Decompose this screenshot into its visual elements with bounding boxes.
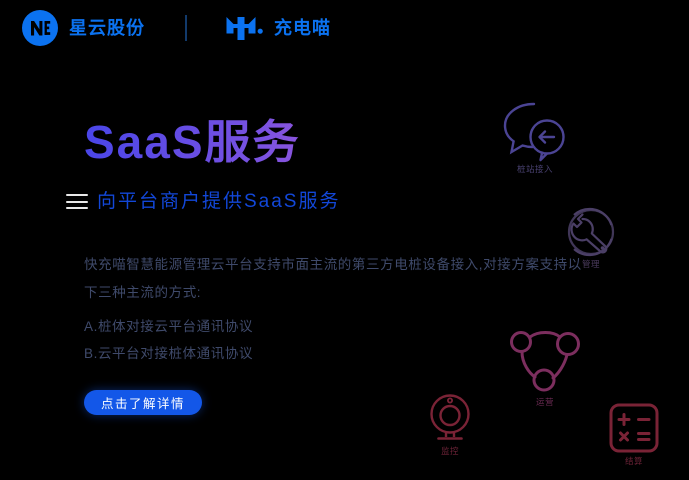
primary-brand-name: 星云股份: [69, 19, 145, 37]
hero-subtitle: 向平台商户提供SaaS服务: [97, 192, 340, 211]
wrench-icon: [564, 207, 618, 257]
feature-item-station-access[interactable]: 桩站接入: [500, 100, 570, 174]
ne-circle-logo-icon: [22, 10, 58, 46]
feature-item-management[interactable]: 管理: [564, 207, 618, 269]
feature-item-monitoring[interactable]: 监控: [425, 392, 475, 456]
feature-label: 监控: [441, 447, 459, 456]
hero-subtitle-row: 向平台商户提供SaaS服务: [66, 192, 604, 211]
calculator-icon: [608, 402, 660, 454]
page-root: 星云股份 充电喵 SaaS服务 向平台商户提供SaaS服务 快充喵智慧能源管理云…: [0, 0, 689, 480]
secondary-brand[interactable]: 充电喵: [225, 15, 331, 41]
feature-item-operation[interactable]: 运营: [505, 325, 585, 407]
feature-label: 管理: [582, 260, 600, 269]
hamburger-menu-icon[interactable]: [66, 194, 88, 209]
brand-divider: [185, 15, 187, 41]
learn-more-button[interactable]: 点击了解详情: [84, 390, 202, 415]
chat-bubble-icon: [500, 100, 570, 162]
hero-paragraph: 快充喵智慧能源管理云平台支持市面主流的第三方电桩设备接入,对接方案支持以下三种主…: [84, 251, 584, 306]
primary-brand[interactable]: 星云股份: [22, 10, 145, 46]
feature-label: 桩站接入: [517, 165, 553, 174]
feature-label: 结算: [625, 457, 643, 466]
feature-label: 运营: [536, 398, 554, 407]
charging-cat-logo-icon: [225, 15, 265, 41]
network-nodes-icon: [505, 325, 585, 395]
feature-item-settlement[interactable]: 结算: [608, 402, 660, 466]
secondary-brand-name: 充电喵: [274, 19, 331, 37]
page-header: 星云股份 充电喵: [0, 0, 689, 56]
camera-monitor-icon: [425, 392, 475, 444]
